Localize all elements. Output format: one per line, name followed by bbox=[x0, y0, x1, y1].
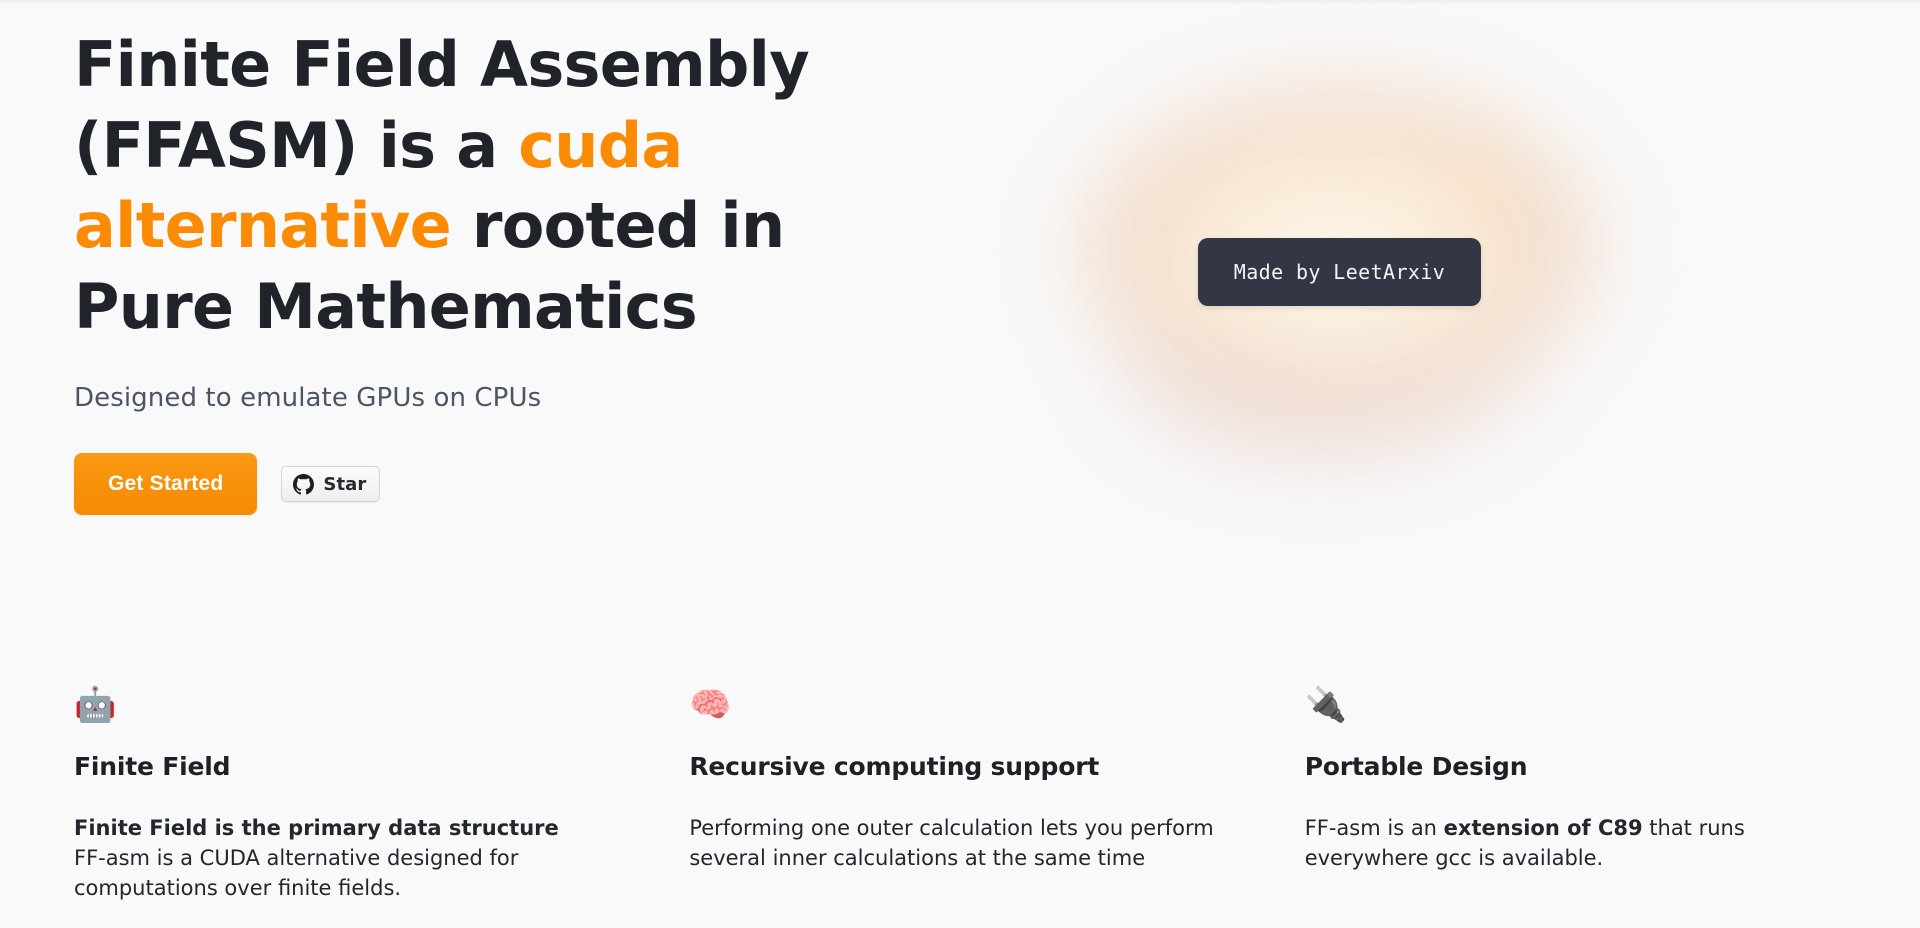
hero-subtitle: Designed to emulate GPUs on CPUs bbox=[74, 383, 904, 413]
feature-title: Finite Field bbox=[74, 752, 629, 781]
headline-part-1: Finite Field Assembly (FFASM) is a bbox=[74, 28, 809, 182]
feature-card-portable-design: 🔌 Portable Design FF-asm is an extension… bbox=[1305, 688, 1920, 903]
feature-title: Recursive computing support bbox=[689, 752, 1244, 781]
feature-lead: Finite Field is the primary data structu… bbox=[74, 816, 559, 840]
feature-text: FF-asm is a CUDA alternative designed fo… bbox=[74, 846, 518, 900]
get-started-button[interactable]: Get Started bbox=[74, 453, 257, 515]
github-star-label: Star bbox=[323, 474, 366, 495]
page-title: Finite Field Assembly (FFASM) is a cuda … bbox=[74, 25, 864, 347]
feature-body: Performing one outer calculation lets yo… bbox=[689, 813, 1219, 873]
feature-text-strong: extension of C89 bbox=[1444, 816, 1643, 840]
brain-emoji: 🧠 bbox=[689, 688, 1244, 732]
github-octocat-icon bbox=[293, 474, 314, 495]
made-by-badge: Made by LeetArxiv bbox=[1198, 238, 1481, 306]
feature-card-finite-field: 🤖 Finite Field Finite Field is the prima… bbox=[74, 688, 689, 903]
robot-face-emoji: 🤖 bbox=[74, 688, 629, 732]
hero-section: Finite Field Assembly (FFASM) is a cuda … bbox=[0, 5, 1920, 665]
feature-body: FF-asm is an extension of C89 that runs … bbox=[1305, 813, 1835, 873]
github-star-button[interactable]: Star bbox=[281, 466, 380, 502]
hero-text-block: Finite Field Assembly (FFASM) is a cuda … bbox=[74, 25, 904, 515]
feature-text: Performing one outer calculation lets yo… bbox=[689, 816, 1213, 870]
hero-visual: Made by LeetArxiv bbox=[990, 25, 1710, 525]
cta-button-row: Get Started Star bbox=[74, 453, 904, 515]
feature-card-recursive-computing: 🧠 Recursive computing support Performing… bbox=[689, 688, 1304, 903]
feature-body: Finite Field is the primary data structu… bbox=[74, 813, 604, 903]
features-section: 🤖 Finite Field Finite Field is the prima… bbox=[0, 688, 1920, 903]
feature-text-prefix: FF-asm is an bbox=[1305, 816, 1444, 840]
electric-plug-emoji: 🔌 bbox=[1305, 688, 1880, 732]
feature-title: Portable Design bbox=[1305, 752, 1880, 781]
